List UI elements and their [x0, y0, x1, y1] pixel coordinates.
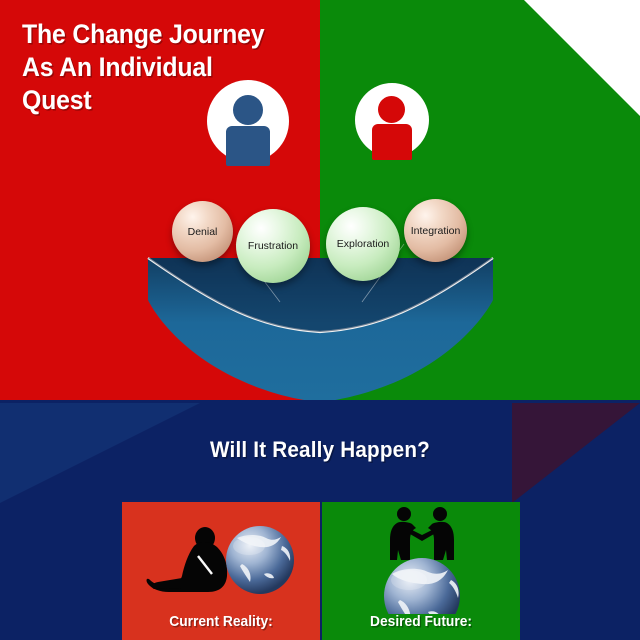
stage-label-frustration: Frustration	[248, 240, 298, 252]
seated-person-silhouette	[147, 527, 228, 592]
handshake-on-globe-icon	[352, 504, 492, 614]
middle-band	[0, 400, 640, 640]
title-line-1: The Change Journey	[22, 18, 289, 51]
seated-person-with-globe-icon	[142, 516, 307, 598]
top-section: The Change Journey As An Individual Ques…	[0, 0, 640, 400]
title-line-2: As An Individual	[22, 51, 289, 84]
globe-highlight	[391, 570, 427, 590]
stage-sphere-frustration[interactable]: Frustration	[236, 209, 310, 283]
panel-label-current-reality: Current Reality:	[130, 613, 312, 630]
title-line-3: Quest	[22, 84, 289, 117]
stage-sphere-exploration[interactable]: Exploration	[326, 207, 400, 281]
stage-label-denial: Denial	[188, 226, 218, 238]
person-icon-right	[355, 83, 429, 157]
person-body-right	[372, 124, 412, 160]
person-head-right	[378, 96, 405, 123]
globe-highlight	[233, 537, 265, 555]
panel-desired-future[interactable]: Desired Future:	[322, 502, 520, 640]
middle-question-text: Will It Really Happen?	[19, 437, 621, 463]
panel-current-reality[interactable]: Current Reality:	[122, 502, 320, 640]
change-curve-valley	[0, 240, 640, 400]
person-body-left	[226, 126, 270, 166]
handshake-silhouettes	[390, 507, 454, 560]
page-title: The Change Journey As An Individual Ques…	[22, 18, 312, 117]
stage-sphere-integration[interactable]: Integration	[404, 199, 467, 262]
stage-label-exploration: Exploration	[337, 238, 390, 250]
infographic-canvas: The Change Journey As An Individual Ques…	[0, 0, 640, 640]
stage-sphere-denial[interactable]: Denial	[172, 201, 233, 262]
panel-label-desired-future: Desired Future:	[330, 613, 512, 630]
stage-label-integration: Integration	[411, 225, 461, 237]
